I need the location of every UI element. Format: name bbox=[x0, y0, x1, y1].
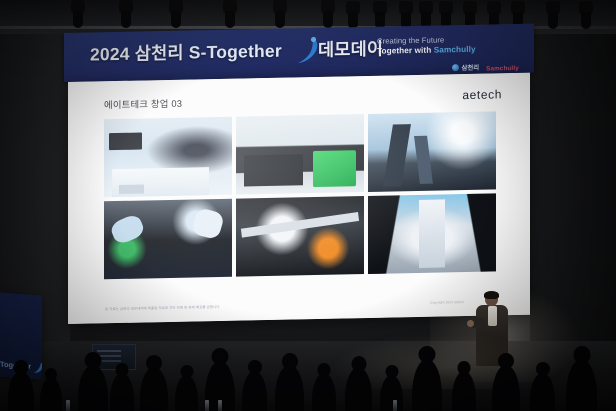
banner-title: 2024 삼천리 S-Together 데모데이 bbox=[90, 36, 383, 67]
audience-head bbox=[180, 365, 193, 378]
tagline-highlight: Samchully bbox=[434, 45, 476, 55]
stage-light bbox=[320, 0, 336, 30]
samchully-logo: 삼천리 bbox=[452, 62, 479, 72]
audience-head bbox=[385, 365, 398, 378]
banner-year: 2024 bbox=[90, 44, 130, 65]
audience-head bbox=[536, 362, 550, 376]
stage-light bbox=[545, 1, 561, 31]
tagline-prefix: Together with bbox=[377, 46, 434, 56]
swoosh-icon bbox=[295, 36, 321, 65]
water-bottle bbox=[218, 400, 222, 411]
slide-image-office-workstation bbox=[104, 117, 232, 198]
stage-light bbox=[70, 0, 86, 30]
audience-head bbox=[498, 353, 514, 369]
audience-head bbox=[248, 360, 262, 374]
samchully-en-text: Samchully bbox=[486, 65, 519, 73]
audience-member bbox=[566, 359, 597, 411]
tagline-line2: Together with Samchully bbox=[377, 45, 476, 58]
presenter-hair bbox=[484, 291, 499, 299]
screenshot-root: 2024 삼천리 S-Together 데모데이 Creating the Fu… bbox=[0, 0, 616, 411]
slide-image-plastic-bottles-conveyor bbox=[104, 199, 232, 280]
audience-member bbox=[40, 377, 62, 411]
audience-head bbox=[282, 353, 298, 370]
audience-head bbox=[212, 348, 229, 365]
audience-member bbox=[78, 365, 108, 411]
presenter-shirt bbox=[488, 306, 497, 326]
aetech-logo: aetech bbox=[462, 87, 502, 102]
audience-member bbox=[242, 371, 267, 411]
audience bbox=[0, 341, 616, 411]
samchully-mark-icon bbox=[452, 64, 459, 71]
stage-light bbox=[118, 0, 134, 30]
audience-member bbox=[8, 371, 34, 411]
water-bottle bbox=[205, 400, 209, 411]
banner-event: 데모데이 bbox=[318, 39, 383, 60]
audience-member bbox=[175, 375, 198, 411]
audience-head bbox=[116, 363, 129, 377]
audience-head bbox=[318, 363, 331, 377]
audience-member bbox=[275, 365, 304, 411]
audience-head bbox=[85, 352, 102, 369]
audience-head bbox=[573, 346, 590, 364]
audience-head bbox=[45, 368, 57, 381]
banner-company: 삼천리 bbox=[135, 43, 184, 64]
slide-image-mixed-waste-closeup bbox=[236, 196, 364, 277]
slide-image-grid bbox=[104, 111, 496, 279]
audience-member bbox=[110, 373, 134, 411]
stage-light bbox=[222, 0, 238, 30]
stage-light bbox=[578, 1, 594, 31]
audience-member bbox=[140, 367, 168, 411]
audience-head bbox=[14, 360, 29, 375]
audience-head bbox=[351, 356, 366, 372]
banner-brand: S-Together bbox=[189, 41, 282, 63]
banner-tagline: Creating the Future Together with Samchu… bbox=[377, 35, 476, 58]
audience-head bbox=[419, 346, 436, 363]
slide-image-conveyor-belt-line bbox=[368, 193, 496, 274]
stage-light bbox=[272, 0, 288, 30]
stage-light bbox=[168, 0, 184, 30]
slide-header: 에이트테크 창업 03 bbox=[104, 96, 182, 112]
water-bottle bbox=[66, 400, 70, 411]
audience-head bbox=[458, 361, 471, 375]
slide-image-sorting-facility-green-bins bbox=[236, 114, 364, 195]
audience-head bbox=[146, 355, 162, 371]
samchully-logo-text: 삼천리 bbox=[462, 62, 480, 71]
presenter-hand bbox=[467, 320, 474, 327]
slide-image-robotic-sorting-machine bbox=[368, 111, 496, 192]
slide-footer-note: 본 자료는 삼천리 데모데이에 제출된 자료로 무단 전재 및 복제 배포를 금… bbox=[105, 304, 219, 311]
water-bottle bbox=[393, 400, 397, 411]
